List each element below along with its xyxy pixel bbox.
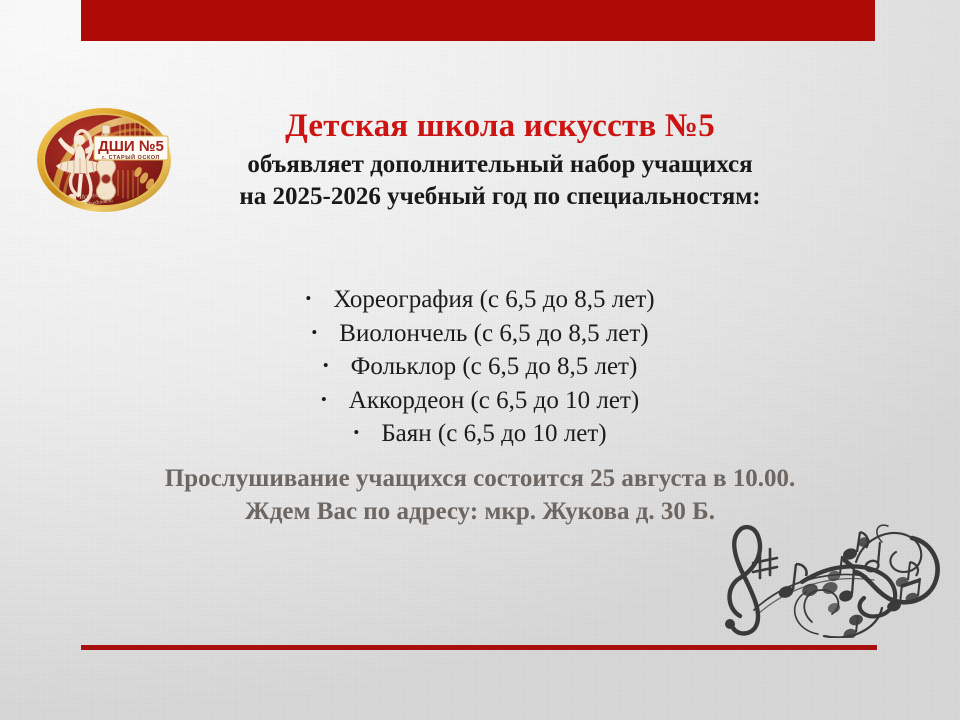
bullet-icon: • [323, 355, 329, 378]
bottom-red-rule [81, 645, 877, 650]
list-item: •Аккордеон (с 6,5 до 10 лет) [0, 384, 960, 418]
specialties-list: •Хореография (с 6,5 до 8,5 лет) •Виолонч… [0, 283, 960, 451]
list-item-label: Хореография (с 6,5 до 8,5 лет) [333, 286, 654, 313]
audition-notice: Прослушивание учащихся состоится 25 авгу… [0, 462, 960, 528]
list-item: •Хореография (с 6,5 до 8,5 лет) [0, 283, 960, 317]
list-item-label: Фольклор (с 6,5 до 8,5 лет) [351, 353, 638, 380]
top-red-banner [81, 0, 875, 41]
notice-line-1: Прослушивание учащихся состоится 25 авгу… [0, 462, 960, 495]
list-item: •Баян (с 6,5 до 10 лет) [0, 417, 960, 451]
list-item: •Виолончель (с 6,5 до 8,5 лет) [0, 317, 960, 351]
bullet-icon: • [321, 389, 327, 412]
list-item-label: Аккордеон (с 6,5 до 10 лет) [349, 387, 639, 414]
subtitle-line-2: на 2025-2026 учебный год по специальност… [150, 181, 850, 213]
bullet-icon: • [311, 322, 317, 345]
heading-block: Детская школа искусств №5 объявляет допо… [150, 108, 850, 213]
music-notes-flourish-icon [706, 520, 960, 638]
list-item-label: Баян (с 6,5 до 10 лет) [381, 420, 606, 447]
bullet-icon: • [353, 422, 359, 445]
subtitle-line-1: объявляет дополнительный набор учащихся [150, 149, 850, 181]
page-title: Детская школа искусств №5 [150, 108, 850, 145]
announcement-slide: ДШИ №5 г. СТАРЫЙ ОСКОЛ Искусство объедин… [0, 0, 960, 720]
bullet-icon: • [305, 288, 311, 311]
list-item-label: Виолончель (с 6,5 до 8,5 лет) [339, 320, 648, 347]
list-item: •Фольклор (с 6,5 до 8,5 лет) [0, 350, 960, 384]
